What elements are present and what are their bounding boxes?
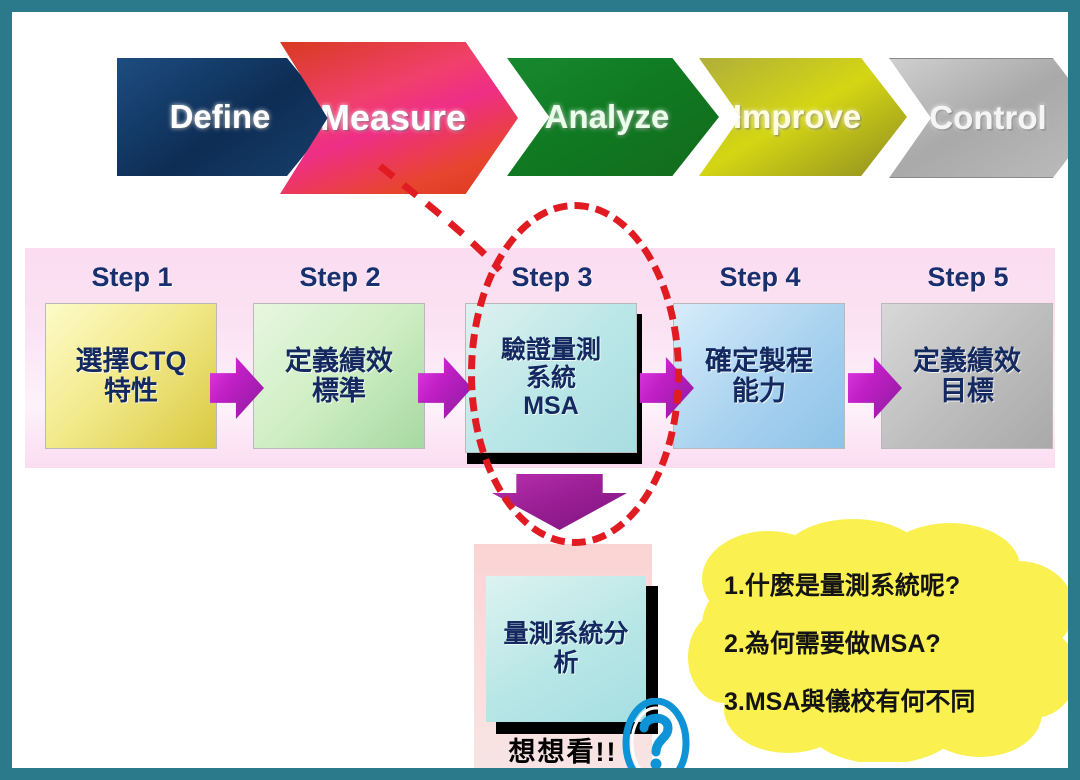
- phase-chevron-improve[interactable]: Improve: [699, 58, 907, 176]
- step-box-5[interactable]: 定義績效 目標: [881, 303, 1053, 449]
- step-item-4[interactable]: Step 4 確定製程 能力: [665, 248, 855, 468]
- step-box-1[interactable]: 選擇CTQ 特性: [45, 303, 217, 449]
- phase-label-analyze: Analyze: [545, 98, 670, 136]
- step-box-2-line-1: 定義績效: [285, 346, 393, 376]
- dmaic-banner: Define Measure Analyze Improve Control: [117, 34, 1017, 194]
- step-box-3-line-1: 驗證量測: [501, 336, 601, 364]
- step-box-4-line-1: 確定製程: [705, 346, 813, 376]
- question-mark-icon: [620, 698, 692, 768]
- phase-label-improve: Improve: [733, 98, 861, 136]
- phase-label-define: Define: [170, 98, 271, 136]
- step-box-1-line-1: 選擇CTQ: [76, 346, 187, 376]
- phase-chevron-control[interactable]: Control: [889, 58, 1068, 178]
- detail-box-line-1: 量測系統分: [503, 620, 628, 649]
- question-item-1: 1.什麼是量測系統呢?: [724, 566, 1054, 602]
- phase-label-measure: Measure: [320, 97, 466, 139]
- step-box-3[interactable]: 驗證量測 系統 MSA: [465, 303, 637, 453]
- slide-canvas: Define Measure Analyze Improve Control S…: [12, 12, 1068, 768]
- question-item-2: 2.為何需要做MSA?: [724, 624, 1054, 660]
- step-item-5[interactable]: Step 5 定義績效 目標: [873, 248, 1063, 468]
- step-box-3-line-2: 系統: [526, 364, 576, 392]
- step-box-5-line-1: 定義績效: [913, 346, 1021, 376]
- step-box-3-line-3: MSA: [523, 392, 579, 420]
- measure-to-step3-dashed-connector: [372, 160, 562, 285]
- step-item-1[interactable]: Step 1 選擇CTQ 特性: [37, 248, 227, 468]
- step-label-4: Step 4: [665, 262, 855, 293]
- step-box-4[interactable]: 確定製程 能力: [673, 303, 845, 449]
- step-box-4-line-2: 能力: [732, 376, 786, 406]
- drilldown-down-arrow: [492, 474, 627, 530]
- step-label-5: Step 5: [873, 262, 1063, 293]
- step-box-2[interactable]: 定義績效 標準: [253, 303, 425, 449]
- step-box-2-line-2: 標準: [312, 376, 366, 406]
- phase-chevron-analyze[interactable]: Analyze: [507, 58, 719, 176]
- question-item-3: 3.MSA與儀校有何不同: [724, 682, 1054, 718]
- phase-label-control: Control: [929, 99, 1046, 137]
- step-box-1-line-2: 特性: [104, 376, 158, 406]
- questions-list: 1.什麼是量測系統呢? 2.為何需要做MSA? 3.MSA與儀校有何不同: [724, 542, 1054, 742]
- step-label-1: Step 1: [37, 262, 227, 293]
- detail-box-line-2: 析: [553, 649, 578, 678]
- step-box-5-line-2: 目標: [940, 376, 994, 406]
